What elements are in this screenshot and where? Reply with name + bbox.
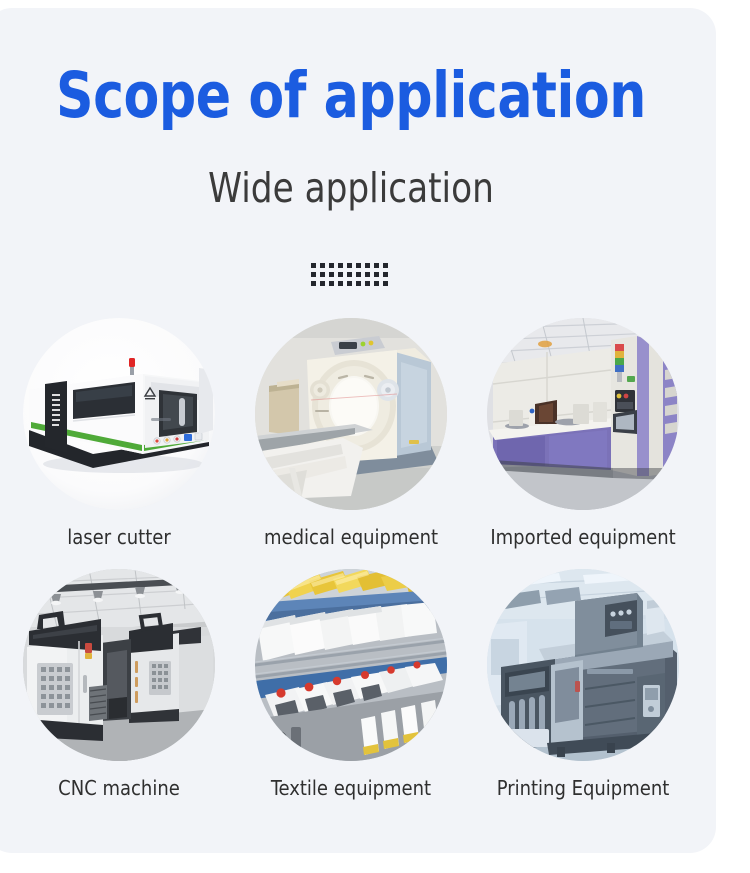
gallery-item-caption: CNC machine — [58, 776, 180, 800]
gallery-item-printing-equipment[interactable]: Printing Equipment — [481, 569, 686, 800]
page-title: Scope of application — [15, 63, 687, 129]
dot-grid-dot — [320, 281, 325, 286]
dot-grid-dot — [383, 272, 388, 277]
gallery-item-caption: laser cutter — [67, 525, 170, 549]
dot-grid-ornament — [0, 263, 716, 290]
dot-grid-dot — [365, 263, 370, 268]
dot-grid-dot — [374, 263, 379, 268]
dot-grid-dot — [311, 263, 316, 268]
dot-grid-dot — [329, 281, 334, 286]
scope-of-application-card: Scope of application Wide application — [0, 8, 716, 853]
application-gallery: laser cutter — [0, 318, 716, 800]
laser-cutter-photo — [23, 318, 215, 510]
gallery-item-caption: medical equipment — [264, 525, 438, 549]
dot-grid-dot — [329, 272, 334, 277]
dot-grid-dot — [365, 281, 370, 286]
dot-grid-dot — [383, 281, 388, 286]
gallery-item-medical-equipment[interactable]: medical equipment — [249, 318, 454, 549]
dot-grid-dot — [356, 272, 361, 277]
imported-equipment-photo — [487, 318, 679, 510]
gallery-item-caption: Textile equipment — [271, 776, 431, 800]
dot-grid-dot — [338, 281, 343, 286]
dot-grid-dot — [356, 263, 361, 268]
dot-grid-dot — [383, 263, 388, 268]
dot-grid-dot — [338, 272, 343, 277]
dot-grid-dot — [365, 272, 370, 277]
printing-equipment-photo — [487, 569, 679, 761]
dot-grid-dot — [311, 281, 316, 286]
gallery-item-imported-equipment[interactable]: Imported equipment — [481, 318, 686, 549]
dot-grid-dot — [311, 272, 316, 277]
dot-grid-dot — [347, 263, 352, 268]
gallery-item-cnc-machine[interactable]: CNC machine — [17, 569, 222, 800]
gallery-item-laser-cutter[interactable]: laser cutter — [17, 318, 222, 549]
gallery-row: CNC machine — [0, 569, 716, 800]
dot-grid-dot — [347, 272, 352, 277]
cnc-machine-photo — [23, 569, 215, 761]
page-subtitle: Wide application — [12, 166, 691, 211]
gallery-item-caption: Printing Equipment — [497, 776, 670, 800]
dot-grid-dot — [338, 263, 343, 268]
dot-grid-dot — [374, 272, 379, 277]
ct-scanner-photo — [255, 318, 447, 510]
dot-grid-dot — [347, 281, 352, 286]
dot-grid-dot — [374, 281, 379, 286]
gallery-item-textile-equipment[interactable]: Textile equipment — [249, 569, 454, 800]
gallery-row: laser cutter — [0, 318, 716, 549]
dot-grid-dot — [320, 272, 325, 277]
dot-grid-dot — [356, 281, 361, 286]
dot-grid-dot — [329, 263, 334, 268]
textile-equipment-photo — [255, 569, 447, 761]
page-root: Scope of application Wide application — [0, 0, 750, 873]
dot-grid-dot — [320, 263, 325, 268]
gallery-item-caption: Imported equipment — [490, 525, 675, 549]
